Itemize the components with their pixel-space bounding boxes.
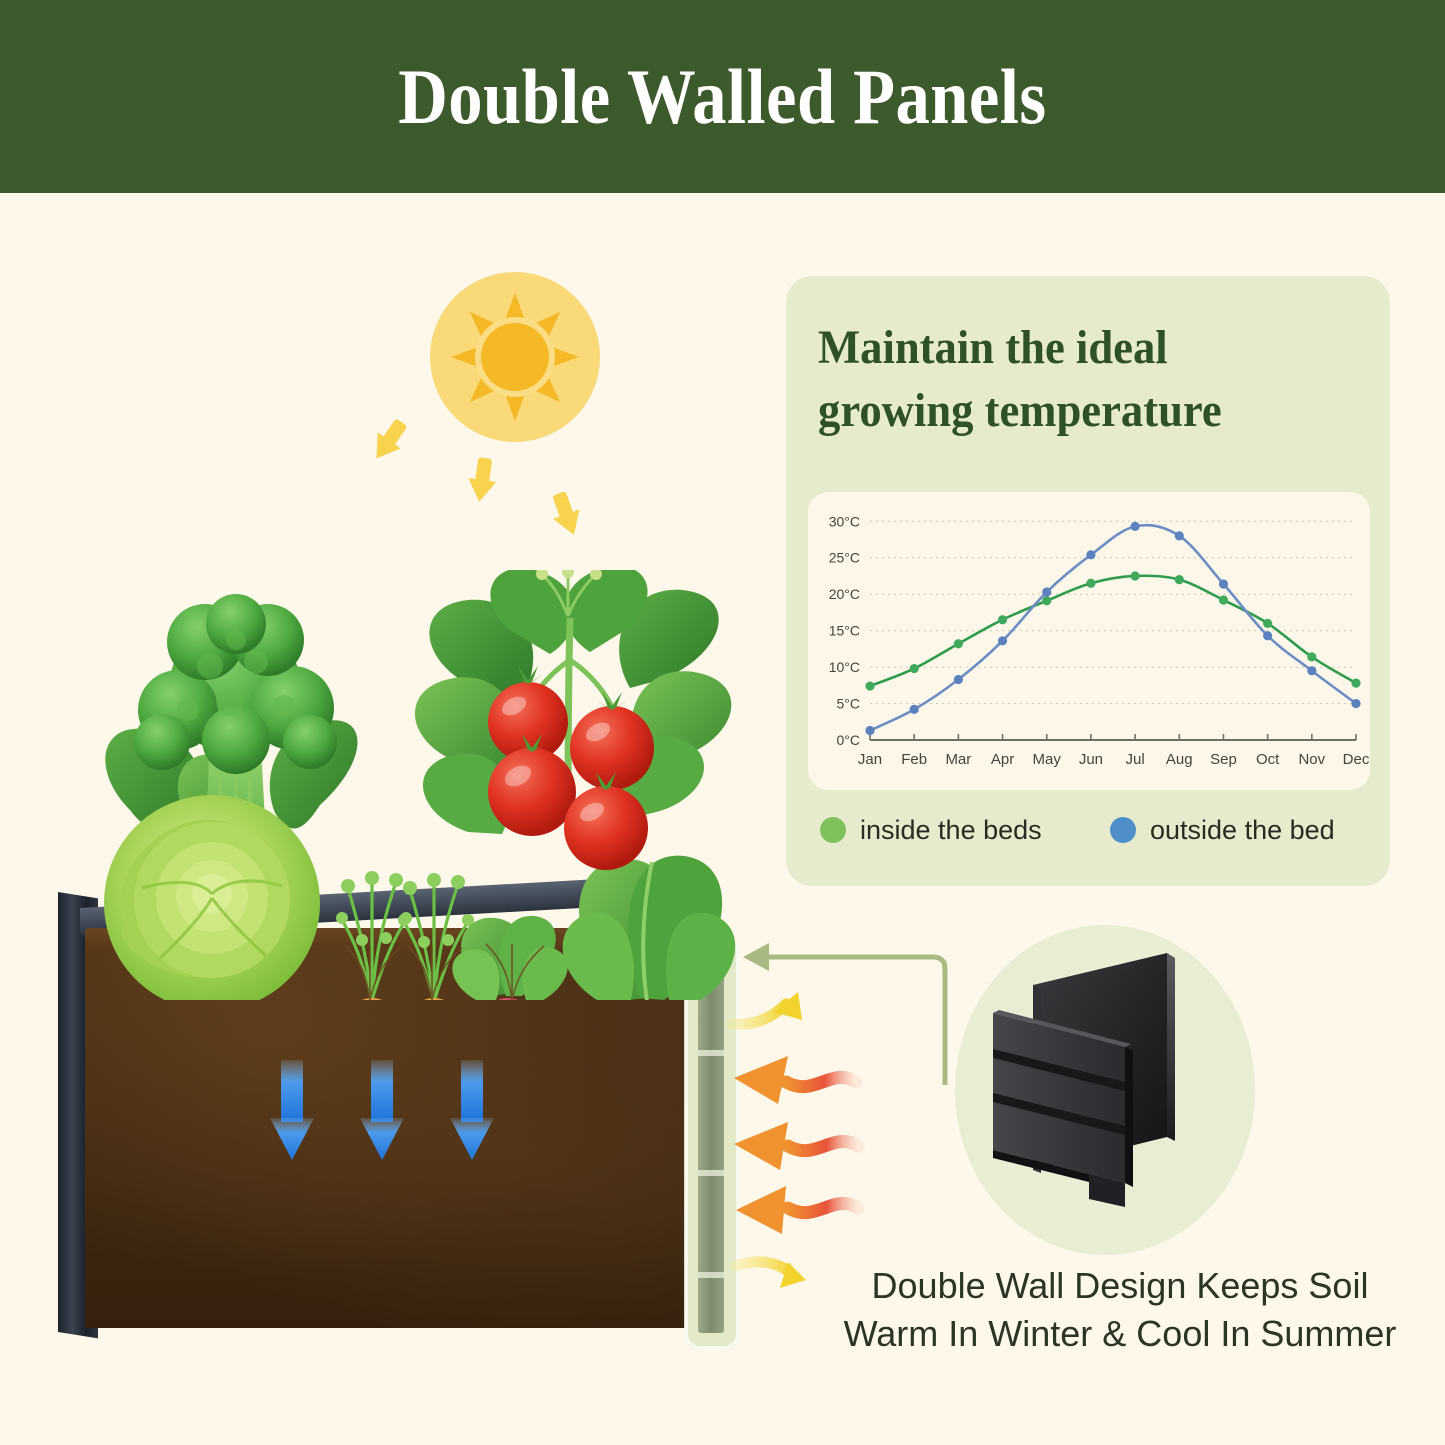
chart-plot-panel: 0°C5°C10°C15°C20°C25°C30°C JanFebMarAprM…	[808, 492, 1370, 790]
svg-text:Jan: Jan	[858, 751, 882, 768]
svg-text:Aug: Aug	[1166, 751, 1193, 768]
chart-heading-line1: Maintain the ideal	[818, 316, 1320, 379]
svg-text:Dec: Dec	[1343, 751, 1370, 768]
svg-text:Feb: Feb	[901, 751, 927, 768]
yellow-heat-arrow-icon	[736, 1262, 806, 1288]
legend-dot-inside	[820, 817, 846, 843]
svg-text:30°C: 30°C	[829, 513, 860, 529]
svg-text:25°C: 25°C	[829, 550, 860, 566]
bed-right-wall-seam	[698, 1050, 724, 1056]
legend-label-outside: outside the bed	[1150, 815, 1335, 846]
sun-icon	[430, 272, 600, 442]
page-title: Double Walled Panels	[398, 58, 1046, 136]
svg-text:Apr: Apr	[991, 751, 1014, 768]
svg-text:Oct: Oct	[1256, 751, 1280, 768]
svg-text:Mar: Mar	[945, 751, 971, 768]
bed-right-wall-seam	[698, 1170, 724, 1176]
plants-group	[70, 570, 750, 1000]
warm-heat-arrow-icon	[734, 1056, 856, 1104]
heat-flow-arrows	[726, 990, 876, 1290]
legend-item-inside[interactable]: inside the beds	[820, 815, 1110, 846]
infographic-root: Double Walled Panels	[0, 0, 1445, 1445]
svg-text:Jun: Jun	[1079, 751, 1103, 768]
legend-dot-outside	[1110, 817, 1136, 843]
soil-texture	[85, 950, 685, 1328]
chart-gridlines	[870, 521, 1356, 703]
panel-front	[993, 1010, 1133, 1207]
tomato-plant	[415, 570, 731, 870]
warm-heat-arrow-icon	[736, 1186, 858, 1234]
caption-line2: Warm In Winter & Cool In Summer	[820, 1310, 1420, 1358]
svg-text:May: May	[1033, 751, 1062, 768]
legend-label-inside: inside the beds	[860, 815, 1042, 846]
chart-series-group	[865, 522, 1360, 735]
raised-garden-bed-illustration	[40, 560, 740, 1390]
svg-text:5°C: 5°C	[837, 696, 861, 712]
sunray-arrow-icon	[358, 412, 418, 472]
chart-heading: Maintain the ideal growing temperature	[818, 316, 1320, 443]
caption-line1: Double Wall Design Keeps Soil	[820, 1262, 1420, 1310]
sunray-arrow-icon	[452, 452, 512, 512]
leafy-greens-plant	[563, 856, 736, 1000]
legend-item-outside[interactable]: outside the bed	[1110, 815, 1335, 846]
bed-right-wall-seam	[698, 1272, 724, 1278]
carrot-plants	[336, 871, 474, 1000]
svg-text:0°C: 0°C	[837, 732, 861, 748]
chart-x-axis	[870, 734, 1356, 740]
double-wall-panel-illustration	[955, 925, 1255, 1255]
temperature-chart-card: Maintain the ideal growing temperature 0…	[786, 276, 1390, 886]
chart-x-axis-labels: JanFebMarAprMayJunJulAugSepOctNovDec	[858, 751, 1370, 768]
sun-illustration	[430, 272, 600, 442]
header-banner: Double Walled Panels	[0, 0, 1445, 193]
temperature-line-chart: 0°C5°C10°C15°C20°C25°C30°C JanFebMarAprM…	[808, 492, 1370, 790]
svg-text:Sep: Sep	[1210, 751, 1237, 768]
yellow-heat-arrow-icon	[732, 992, 802, 1024]
svg-text:15°C: 15°C	[829, 623, 860, 639]
chart-y-axis-labels: 0°C5°C10°C15°C20°C25°C30°C	[829, 513, 860, 748]
warm-heat-arrow-icon	[734, 1122, 858, 1170]
chart-legend: inside the beds outside the bed	[810, 804, 1370, 856]
svg-text:10°C: 10°C	[829, 659, 860, 675]
soil-arrow-group	[270, 1060, 494, 1160]
chart-heading-line2: growing temperature	[818, 379, 1320, 442]
soil-cross-section	[85, 950, 685, 1328]
bottom-caption: Double Wall Design Keeps Soil Warm In Wi…	[820, 1262, 1420, 1357]
svg-text:Jul: Jul	[1125, 751, 1144, 768]
sunray-arrow-icon	[537, 486, 597, 546]
svg-text:Nov: Nov	[1298, 751, 1325, 768]
svg-text:20°C: 20°C	[829, 586, 860, 602]
